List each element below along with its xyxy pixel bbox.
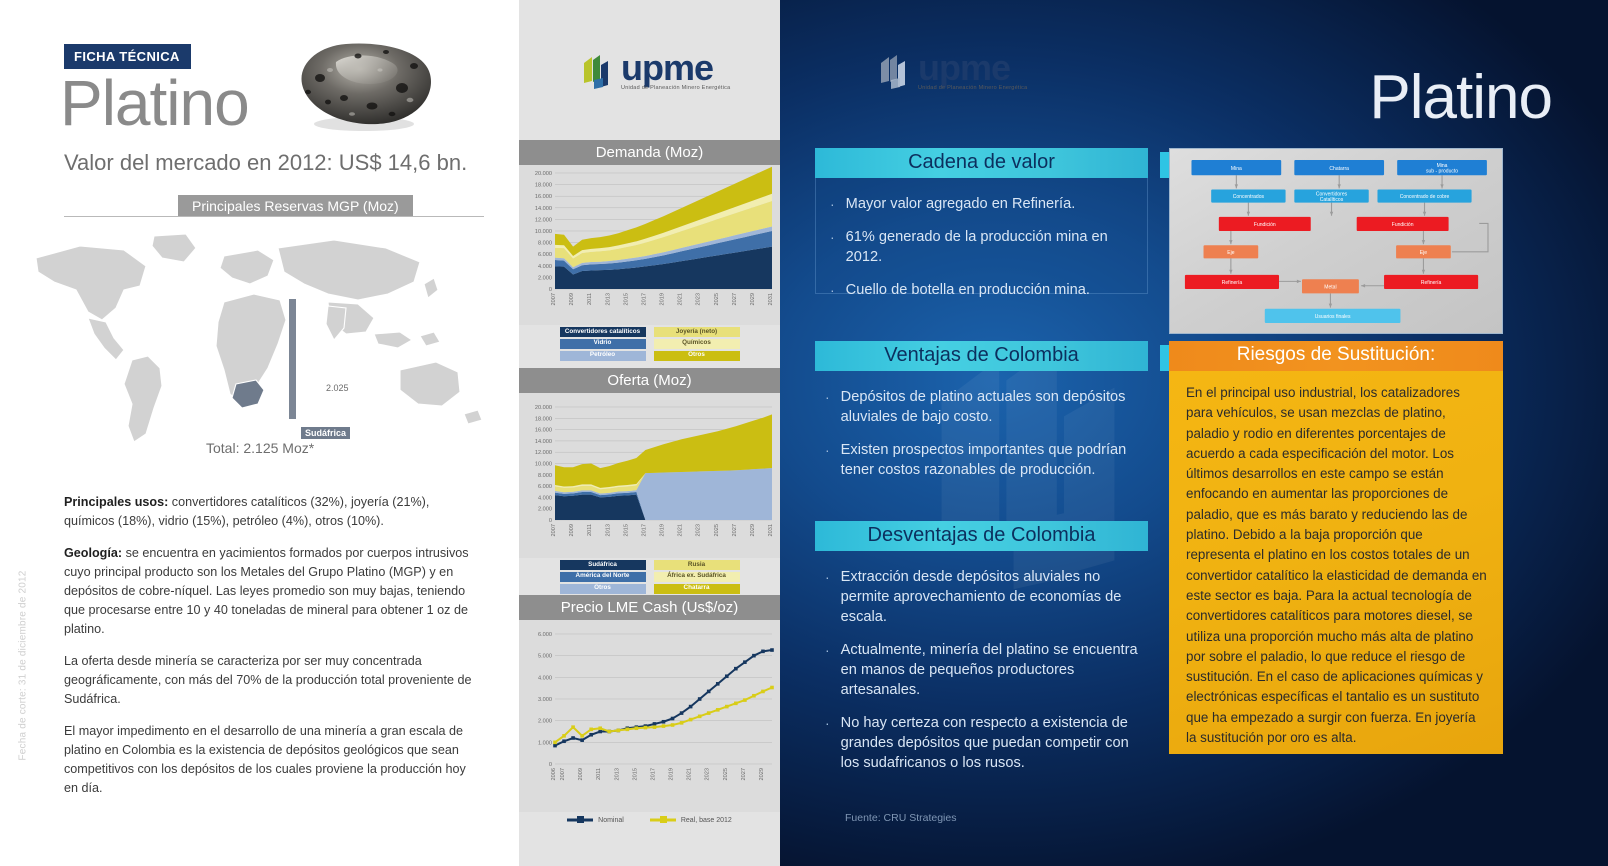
bullet-item: · No hay certeza con respecto a existenc…	[825, 713, 1138, 773]
svg-text:18.000: 18.000	[535, 416, 552, 422]
panel-desventajas-header: Desventajas de Colombia	[815, 521, 1148, 551]
upme-logo-middle: upme Unidad de Planeación Minero Energét…	[581, 52, 730, 91]
value-chain-node: Refinería	[1384, 275, 1478, 289]
reserves-bar-value: 2.025	[326, 383, 349, 393]
value-chain-node: Fundición	[1219, 217, 1311, 231]
svg-text:2023: 2023	[696, 293, 702, 305]
svg-text:Catalíticos: Catalíticos	[1320, 197, 1344, 203]
platinum-nugget-image	[284, 36, 438, 134]
legend-item-nominal: Nominal	[567, 816, 624, 824]
bullet-item: · 61% generado de la producción mina en …	[830, 227, 1129, 267]
svg-text:2025: 2025	[714, 293, 720, 305]
paragraph-geologia-text: se encuentra en yacimientos formados por…	[64, 546, 469, 636]
svg-text:6.000: 6.000	[538, 632, 552, 638]
upme-wordmark: upme	[621, 52, 730, 84]
reserves-bar	[289, 299, 296, 419]
legend-item-sudafrica: Sudáfrica	[560, 560, 646, 570]
panel-ventajas-colombia: Ventajas de Colombia · Depósitos de plat…	[815, 341, 1148, 507]
legend-item-real: Real, base 2012	[650, 816, 732, 824]
legend-marker-nominal	[567, 816, 593, 824]
chart-precio-plot: 01.0002.0003.0004.0005.0006.000 20062007…	[519, 620, 780, 812]
svg-text:2009: 2009	[569, 293, 575, 305]
upme-wordmark-right: upme	[918, 52, 1027, 84]
legend-item-otros-oferta: Otros	[560, 584, 646, 594]
value-chain-node: Fundición	[1357, 217, 1449, 231]
svg-text:Fundición: Fundición	[1254, 222, 1276, 228]
value-chain-node: Minasub - producto	[1397, 160, 1487, 175]
reserves-band-title: Principales Reservas MGP (Moz)	[178, 195, 413, 217]
svg-text:2023: 2023	[696, 524, 702, 536]
panel-desventajas-body: · Extracción desde depósitos aluviales n…	[815, 551, 1148, 800]
svg-text:2031: 2031	[768, 524, 774, 536]
svg-text:2009: 2009	[569, 524, 575, 536]
panel-riesgos-text: En el principal uso industrial, los cata…	[1169, 371, 1503, 754]
svg-text:16.000: 16.000	[535, 428, 552, 434]
bullet-item: · Mayor valor agregado en Refinería.	[830, 194, 1129, 214]
svg-text:4.000: 4.000	[538, 675, 552, 681]
value-chain-node: Metal	[1302, 279, 1359, 293]
bullet-item: · Cuello de botella en producción mina.	[830, 280, 1129, 300]
bullet-text: Mayor valor agregado en Refinería.	[846, 194, 1076, 214]
svg-text:2013: 2013	[614, 768, 620, 780]
svg-text:16.000: 16.000	[535, 194, 552, 200]
bullet-dot-icon: ·	[830, 280, 835, 300]
svg-text:4.000: 4.000	[538, 264, 552, 270]
svg-text:2017: 2017	[641, 293, 647, 305]
chart-oferta-svg: 02.0004.0006.0008.00010.00012.00014.0001…	[519, 393, 780, 558]
value-chain-node: Eje	[1204, 245, 1259, 258]
cut-off-date: Fecha de corte: 31 de diciembre de 2012	[18, 546, 29, 786]
value-chain-node: Concentrados	[1211, 189, 1285, 202]
svg-text:2011: 2011	[587, 524, 593, 536]
chart-precio-legend: Nominal Real, base 2012	[519, 816, 780, 824]
upme-mark-icon	[581, 53, 615, 91]
svg-text:2021: 2021	[678, 524, 684, 536]
svg-text:2021: 2021	[678, 293, 684, 305]
svg-text:14.000: 14.000	[535, 206, 552, 212]
chart-precio-svg: 01.0002.0003.0004.0005.0006.000 20062007…	[519, 620, 780, 812]
bullet-text: Existen prospectos importantes que podrí…	[841, 440, 1138, 480]
south-africa-highlight	[232, 380, 264, 408]
svg-text:Eje: Eje	[1420, 250, 1427, 256]
svg-text:0: 0	[549, 518, 552, 524]
svg-text:2015: 2015	[623, 293, 629, 305]
bullet-text: 61% generado de la producción mina en 20…	[846, 227, 1129, 267]
svg-text:18.000: 18.000	[535, 183, 552, 189]
panel-desventajas-colombia: Desventajas de Colombia · Extracción des…	[815, 521, 1148, 800]
svg-text:2007: 2007	[551, 524, 557, 536]
svg-text:2015: 2015	[623, 524, 629, 536]
svg-text:Refinería: Refinería	[1421, 280, 1442, 286]
svg-text:Fundición: Fundición	[1392, 222, 1414, 228]
bullet-dot-icon: ·	[825, 440, 830, 480]
upme-tagline: Unidad de Planeación Minero Energética	[621, 85, 730, 91]
legend-label-nominal: Nominal	[598, 817, 624, 824]
chart-demanda: Demanda (Moz) 02.0004.0006.0008.00010.00…	[519, 140, 780, 361]
value-chain-node: Chatarra	[1294, 160, 1384, 175]
svg-text:2017: 2017	[641, 524, 647, 536]
svg-text:2006: 2006	[551, 768, 557, 780]
svg-text:2029: 2029	[750, 293, 756, 305]
svg-text:0: 0	[549, 287, 552, 293]
legend-label-real: Real, base 2012	[681, 817, 732, 824]
svg-text:20.000: 20.000	[535, 171, 552, 177]
legend-column-right: Joyería (neto) Químicos Otros	[654, 327, 740, 361]
bullet-dot-icon: ·	[825, 713, 830, 773]
bullet-dot-icon: ·	[825, 387, 830, 427]
page-title: Platino	[60, 66, 249, 140]
reserves-bar-label: Sudáfrica	[301, 427, 350, 439]
market-value-subtitle: Valor del mercado en 2012: US$ 14,6 bn.	[64, 150, 467, 176]
value-chain-svg: MinaChatarraMinasub - productoConcentrad…	[1170, 149, 1504, 335]
svg-text:2019: 2019	[660, 524, 666, 536]
legend-item-joyeria: Joyería (neto)	[654, 327, 740, 337]
upme-text-block-right: upme Unidad de Planeación Minero Energét…	[918, 52, 1027, 91]
chart-oferta: Oferta (Moz) 02.0004.0006.0008.00010.000…	[519, 368, 780, 606]
svg-text:Concentrados: Concentrados	[1233, 194, 1265, 200]
svg-text:Usuarios finales: Usuarios finales	[1315, 314, 1351, 320]
bullet-text: Extracción desde depósitos aluviales no …	[841, 567, 1138, 627]
legend-item-vidrio: Vidrio	[560, 339, 646, 349]
legend-item-otros: Otros	[654, 351, 740, 361]
svg-text:2023: 2023	[705, 768, 711, 780]
right-title: Platino	[1369, 62, 1552, 133]
svg-text:5.000: 5.000	[538, 654, 552, 660]
legend-item-america-norte: América del Norte	[560, 572, 646, 582]
bullet-dot-icon: ·	[830, 194, 835, 214]
legend-column-left: Convertidores catalíticos Vidrio Petróle…	[560, 327, 646, 361]
value-chain-node: Eje	[1396, 245, 1451, 258]
fuente-label: Fuente: CRU Strategies	[845, 812, 956, 824]
svg-text:2027: 2027	[732, 293, 738, 305]
svg-text:2015: 2015	[632, 768, 638, 780]
chart-precio: Precio LME Cash (Us$/oz) 01.0002.0003.00…	[519, 595, 780, 824]
svg-text:3.000: 3.000	[538, 697, 552, 703]
chart-demanda-legend: Convertidores catalíticos Vidrio Petróle…	[519, 327, 780, 361]
paragraph-usos: Principales usos: convertidores catalíti…	[64, 493, 474, 531]
svg-text:2025: 2025	[723, 768, 729, 780]
svg-text:2013: 2013	[605, 524, 611, 536]
svg-text:20.000: 20.000	[535, 405, 552, 411]
value-chain-node: Concentrado de cobre	[1377, 189, 1471, 202]
value-chain-node: Usuarios finales	[1265, 309, 1401, 323]
svg-text:Refinería: Refinería	[1222, 280, 1243, 286]
chart-demanda-svg: 02.0004.0006.0008.00010.00012.00014.0001…	[519, 165, 780, 325]
svg-text:Concentrado de cobre: Concentrado de cobre	[1400, 194, 1450, 200]
svg-text:2017: 2017	[650, 768, 656, 780]
bullet-dot-icon: ·	[825, 567, 830, 627]
paragraph-geologia: Geología: se encuentra en yacimientos fo…	[64, 544, 474, 639]
left-column: Fecha de corte: 31 de diciembre de 2012 …	[0, 0, 519, 866]
svg-text:4.000: 4.000	[538, 495, 552, 501]
svg-text:2013: 2013	[605, 293, 611, 305]
bullet-dot-icon: ·	[830, 227, 835, 267]
bullet-item: · Actualmente, minería del platino se en…	[825, 640, 1138, 700]
svg-text:2021: 2021	[687, 768, 693, 780]
world-map	[28, 228, 498, 458]
chart-demanda-title: Demanda (Moz)	[519, 140, 780, 165]
infographic-page: Fecha de corte: 31 de diciembre de 2012 …	[0, 0, 1608, 866]
bullet-item: · Existen prospectos importantes que pod…	[825, 440, 1138, 480]
legend-item-quimicos: Químicos	[654, 339, 740, 349]
svg-text:2007: 2007	[560, 768, 566, 780]
upme-mark-icon-right	[878, 53, 912, 91]
svg-text:14.000: 14.000	[535, 439, 552, 445]
svg-text:6.000: 6.000	[538, 252, 552, 258]
value-chain-diagram: MinaChatarraMinasub - productoConcentrad…	[1169, 148, 1503, 334]
panel-ventajas-body: · Depósitos de platino actuales son depó…	[815, 371, 1148, 507]
legend-item-petroleo: Petróleo	[560, 351, 646, 361]
svg-text:2031: 2031	[768, 293, 774, 305]
panel-cadena-header: Cadena de valor	[815, 148, 1148, 178]
svg-text:6.000: 6.000	[538, 484, 552, 490]
bullet-text: Cuello de botella en producción mina.	[846, 280, 1090, 300]
panel-cadena-de-valor: Cadena de valor · Mayor valor agregado e…	[815, 148, 1148, 294]
svg-text:sub - producto: sub - producto	[1426, 169, 1458, 175]
panel-ventajas-header: Ventajas de Colombia	[815, 341, 1148, 371]
bullet-text: Actualmente, minería del platino se encu…	[841, 640, 1138, 700]
upme-tagline-right: Unidad de Planeación Minero Energética	[918, 85, 1027, 91]
svg-text:1.000: 1.000	[538, 740, 552, 746]
svg-text:Chatarra: Chatarra	[1329, 166, 1349, 172]
bullet-item: · Depósitos de platino actuales son depó…	[825, 387, 1138, 427]
svg-text:12.000: 12.000	[535, 450, 552, 456]
svg-text:2019: 2019	[669, 768, 675, 780]
bullet-item: · Extracción desde depósitos aluviales n…	[825, 567, 1138, 627]
svg-text:2027: 2027	[741, 768, 747, 780]
paragraph-geologia-lead: Geología:	[64, 546, 122, 560]
legend-item-africa-ex: África ex. Sudáfrica	[654, 572, 740, 582]
chart-oferta-title: Oferta (Moz)	[519, 368, 780, 393]
bullet-dot-icon: ·	[825, 640, 830, 700]
svg-text:8.000: 8.000	[538, 473, 552, 479]
svg-text:2025: 2025	[714, 524, 720, 536]
bullet-text: Depósitos de platino actuales son depósi…	[841, 387, 1138, 427]
middle-column: upme Unidad de Planeación Minero Energét…	[519, 0, 780, 866]
paragraph-usos-lead: Principales usos:	[64, 495, 168, 509]
value-chain-node: Refinería	[1185, 275, 1279, 289]
value-chain-node: ConvertidoresCatalíticos	[1294, 189, 1368, 203]
bullet-text: No hay certeza con respecto a existencia…	[841, 713, 1138, 773]
upme-logo-right: upme Unidad de Planeación Minero Energét…	[878, 52, 1027, 91]
svg-text:2.000: 2.000	[538, 507, 552, 513]
svg-text:10.000: 10.000	[535, 462, 552, 468]
svg-text:2027: 2027	[732, 524, 738, 536]
svg-text:2007: 2007	[551, 293, 557, 305]
chart-precio-title: Precio LME Cash (Us$/oz)	[519, 595, 780, 620]
chart-oferta-plot: 02.0004.0006.0008.00010.00012.00014.0001…	[519, 393, 780, 558]
reserves-divider	[64, 216, 484, 217]
svg-text:10.000: 10.000	[535, 229, 552, 235]
svg-text:2029: 2029	[759, 768, 765, 780]
svg-text:2009: 2009	[578, 768, 584, 780]
svg-text:0: 0	[549, 762, 552, 768]
legend-item-chatarra: Chatarra	[654, 584, 740, 594]
legend-item-rusia: Rusia	[654, 560, 740, 570]
value-chain-node: Mina	[1191, 160, 1281, 175]
svg-text:Metal: Metal	[1324, 285, 1336, 291]
legend-item-convertidores: Convertidores catalíticos	[560, 327, 646, 337]
svg-text:2029: 2029	[750, 524, 756, 536]
reserves-total: Total: 2.125 Moz*	[206, 440, 314, 456]
svg-text:Mina: Mina	[1231, 166, 1242, 172]
svg-text:2.000: 2.000	[538, 719, 552, 725]
svg-text:8.000: 8.000	[538, 241, 552, 247]
svg-text:12.000: 12.000	[535, 217, 552, 223]
svg-text:2019: 2019	[660, 293, 666, 305]
panel-riesgos-header: Riesgos de Sustitución:	[1169, 341, 1503, 371]
svg-text:2011: 2011	[596, 768, 602, 780]
panel-cadena-body: · Mayor valor agregado en Refinería. · 6…	[815, 178, 1148, 294]
upme-text-block: upme Unidad de Planeación Minero Energét…	[621, 52, 730, 91]
paragraph-oferta: La oferta desde minería se caracteriza p…	[64, 652, 474, 709]
chart-demanda-plot: 02.0004.0006.0008.00010.00012.00014.0001…	[519, 165, 780, 325]
legend-marker-real	[650, 816, 676, 824]
svg-text:2011: 2011	[587, 293, 593, 305]
svg-text:Eje: Eje	[1227, 250, 1234, 256]
panel-riesgos-sustitucion: Riesgos de Sustitución: En el principal …	[1169, 341, 1503, 756]
left-body-text: Principales usos: convertidores catalíti…	[64, 493, 474, 811]
paragraph-impedimento: El mayor impedimento en el desarrollo de…	[64, 722, 474, 798]
svg-text:2.000: 2.000	[538, 275, 552, 281]
